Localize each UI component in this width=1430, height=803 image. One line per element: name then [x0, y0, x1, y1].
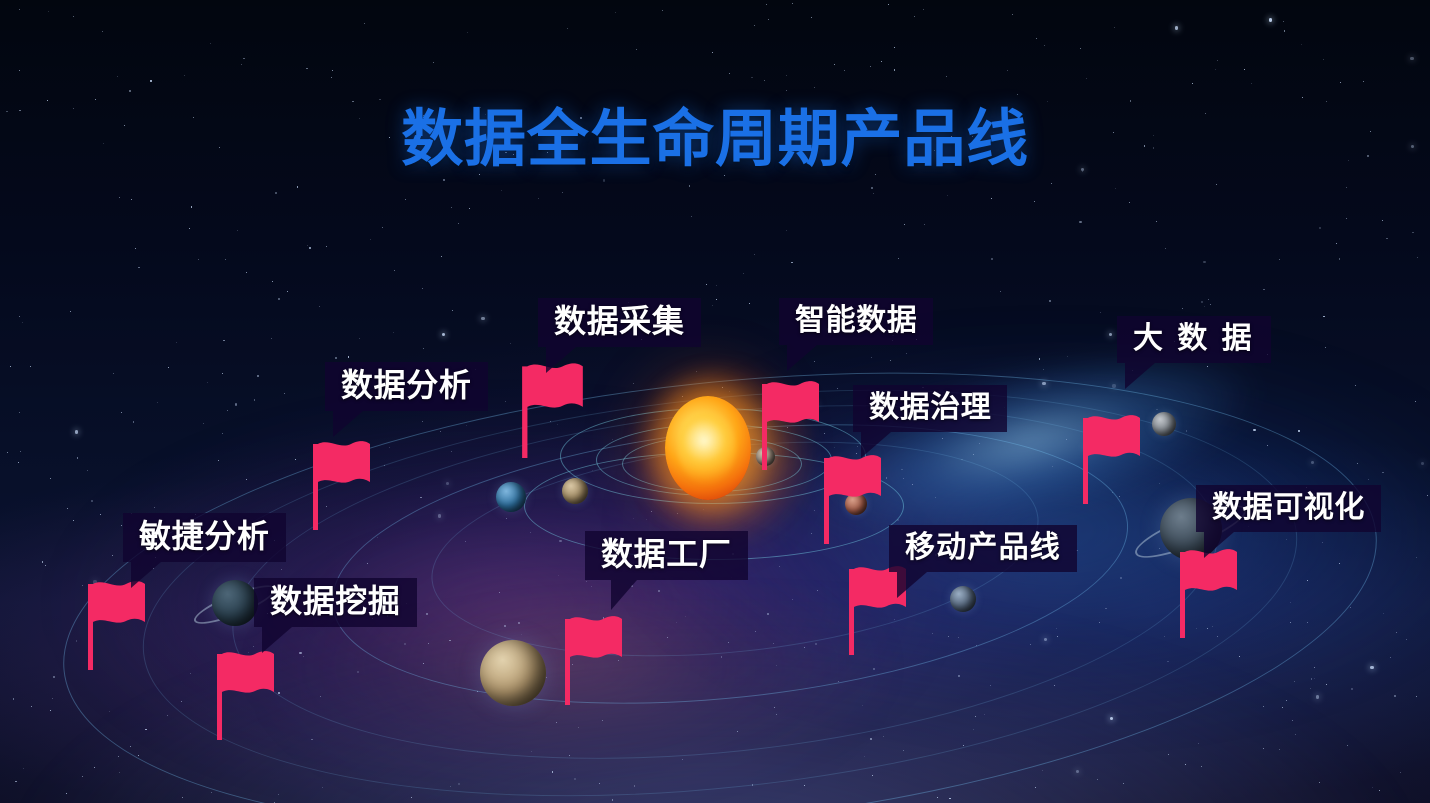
label-tail [1204, 532, 1234, 558]
label-text: 数据采集 [554, 304, 685, 339]
flag-data-analysis[interactable] [313, 438, 371, 530]
label-data-mining[interactable]: 数据挖掘 [254, 578, 417, 627]
label-text: 数据挖掘 [270, 584, 401, 619]
flag-data-visualization[interactable] [1180, 546, 1238, 638]
sun-core-glow [678, 412, 736, 484]
flag-data-governance[interactable] [824, 452, 882, 544]
planet-grey [1152, 412, 1176, 436]
label-tail [897, 572, 927, 598]
flag-data-mining[interactable] [217, 648, 275, 740]
planet-earth [496, 482, 526, 512]
label-data-collection[interactable]: 数据采集 [538, 298, 701, 347]
flag-intelligent-data[interactable] [762, 378, 820, 470]
label-text: 数据治理 [869, 391, 991, 424]
label-tail [861, 432, 891, 458]
flag-big-data[interactable] [1083, 412, 1141, 504]
flag-data-factory[interactable] [565, 613, 623, 705]
label-intelligent-data[interactable]: 智能数据 [779, 298, 933, 345]
planet-jupiter [480, 640, 546, 706]
label-tail [1125, 363, 1155, 389]
label-data-visualization[interactable]: 数据可视化 [1196, 485, 1381, 532]
slide-canvas: 数据采集智能数据大 数 据数据分析数据治理数据可视化敏捷分析数据工厂移动产品线数… [0, 0, 1430, 803]
label-tail [787, 345, 817, 371]
label-tail [333, 411, 363, 437]
label-agile-analysis[interactable]: 敏捷分析 [123, 513, 286, 562]
flag-data-collection[interactable] [522, 360, 584, 458]
label-text: 智能数据 [795, 304, 917, 337]
label-data-factory[interactable]: 数据工厂 [585, 531, 748, 580]
planet-blue-sm [950, 586, 976, 612]
label-tail [546, 347, 576, 373]
flag-agile-analysis[interactable] [88, 578, 146, 670]
label-text: 数据工厂 [601, 537, 732, 572]
planet-tan-sm [562, 478, 588, 504]
label-text: 敏捷分析 [139, 519, 270, 554]
label-text: 数据可视化 [1212, 491, 1365, 524]
label-data-analysis[interactable]: 数据分析 [325, 362, 488, 411]
label-big-data[interactable]: 大 数 据 [1117, 316, 1271, 363]
label-text: 移动产品线 [905, 531, 1061, 564]
label-mobile-product-line[interactable]: 移动产品线 [889, 525, 1077, 572]
label-tail [131, 562, 161, 588]
planet-saturn-left [212, 580, 258, 626]
label-tail [611, 580, 637, 610]
label-text: 大 数 据 [1133, 322, 1255, 355]
label-tail [262, 627, 292, 653]
page-title: 数据全生命周期产品线 [0, 88, 1430, 178]
label-text: 数据分析 [341, 368, 472, 403]
label-data-governance[interactable]: 数据治理 [853, 385, 1007, 432]
